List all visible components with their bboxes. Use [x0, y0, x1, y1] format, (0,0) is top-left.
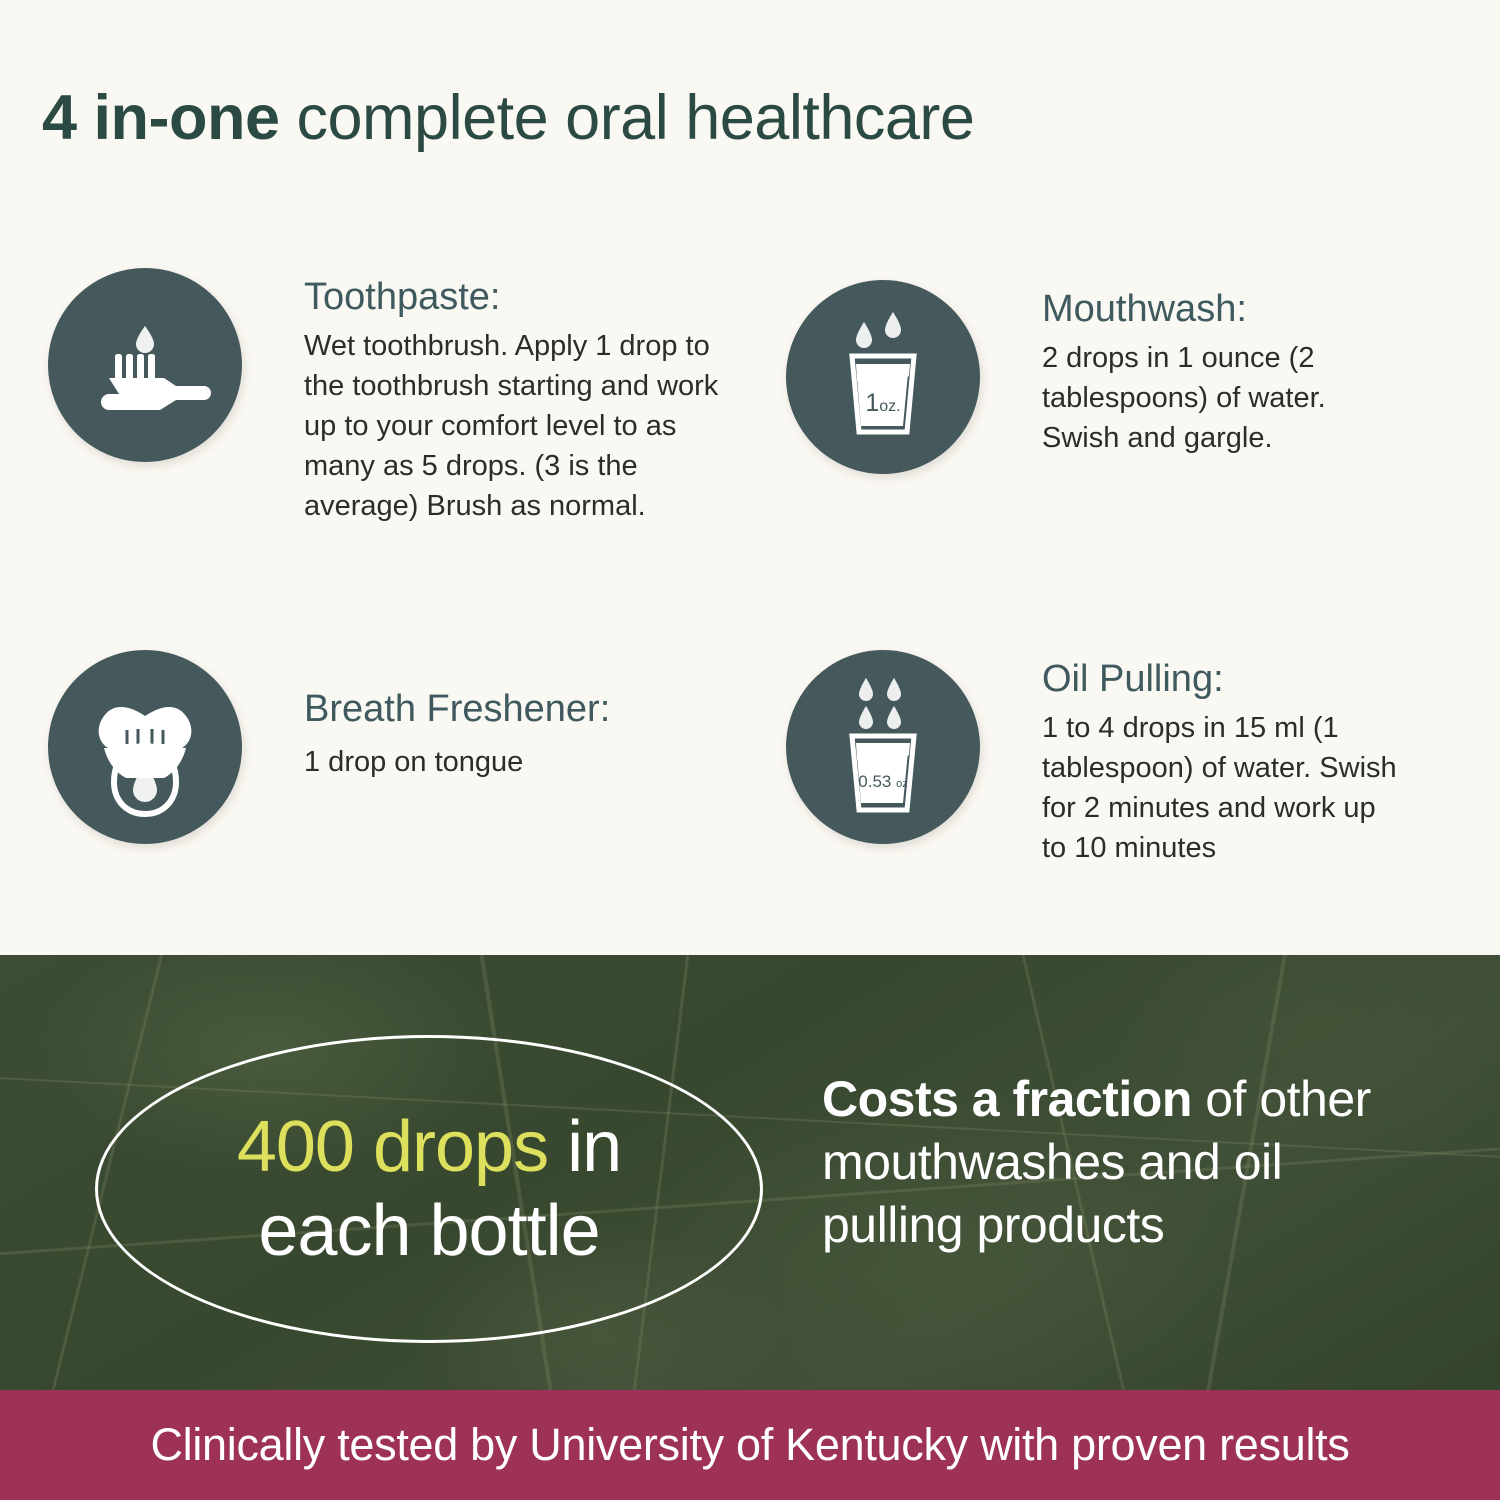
feature-body-breath-freshener: Breath Freshener: 1 drop on tongue [304, 650, 734, 782]
feature-text-mouthwash: 2 drops in 1 ounce (2 tablespoons) of wa… [1042, 338, 1402, 458]
page-title: 4 in-one complete oral healthcare [42, 82, 974, 154]
mouth-tongue-drop-icon [48, 650, 242, 844]
feature-breath-freshener: Breath Freshener: 1 drop on tongue [48, 650, 748, 844]
drops-count-in: in [548, 1107, 621, 1187]
feature-title-breath-freshener: Breath Freshener: [304, 686, 734, 732]
feature-body-oil-pulling: Oil Pulling: 1 to 4 drops in 15 ml (1 ta… [1042, 650, 1402, 868]
feature-title-mouthwash: Mouthwash: [1042, 286, 1402, 332]
feature-oil-pulling: 0.53 oz Oil Pulling: 1 to 4 drops in 15 … [786, 650, 1446, 868]
feature-text-toothpaste: Wet toothbrush. Apply 1 drop to the toot… [304, 326, 724, 526]
page-title-bold: 4 in-one [42, 83, 280, 153]
costs-claim-text: Costs a fraction of other mouthwashes an… [822, 1068, 1432, 1257]
top-instructions-section: 4 in-one complete oral healthcare Toothp… [0, 0, 1500, 955]
glass-two-drops-icon: 1oz. [786, 280, 980, 474]
drops-count-oval: 400 drops in each bottle [95, 1035, 763, 1343]
feature-toothpaste: Toothpaste: Wet toothbrush. Apply 1 drop… [48, 268, 748, 526]
costs-claim-bold: Costs a fraction [822, 1071, 1192, 1127]
clinical-test-banner-text: Clinically tested by University of Kentu… [150, 1418, 1349, 1472]
page-title-rest: complete oral healthcare [280, 83, 975, 153]
clinical-test-banner: Clinically tested by University of Kentu… [0, 1390, 1500, 1500]
feature-body-mouthwash: Mouthwash: 2 drops in 1 ounce (2 tablesp… [1042, 280, 1402, 458]
feature-mouthwash: 1oz. Mouthwash: 2 drops in 1 ounce (2 ta… [786, 280, 1446, 474]
toothbrush-drop-icon [48, 268, 242, 462]
drops-count-line2: each bottle [258, 1191, 599, 1271]
feature-text-oil-pulling: 1 to 4 drops in 15 ml (1 tablespoon) of … [1042, 708, 1402, 868]
drops-count-number: 400 drops [237, 1107, 548, 1187]
feature-text-breath-freshener: 1 drop on tongue [304, 742, 734, 782]
glass-four-drops-icon: 0.53 oz [786, 650, 980, 844]
drops-count-text: 400 drops in each bottle [237, 1105, 621, 1273]
feature-title-toothpaste: Toothpaste: [304, 274, 724, 320]
feature-body-toothpaste: Toothpaste: Wet toothbrush. Apply 1 drop… [304, 268, 724, 526]
feature-title-oil-pulling: Oil Pulling: [1042, 656, 1402, 702]
